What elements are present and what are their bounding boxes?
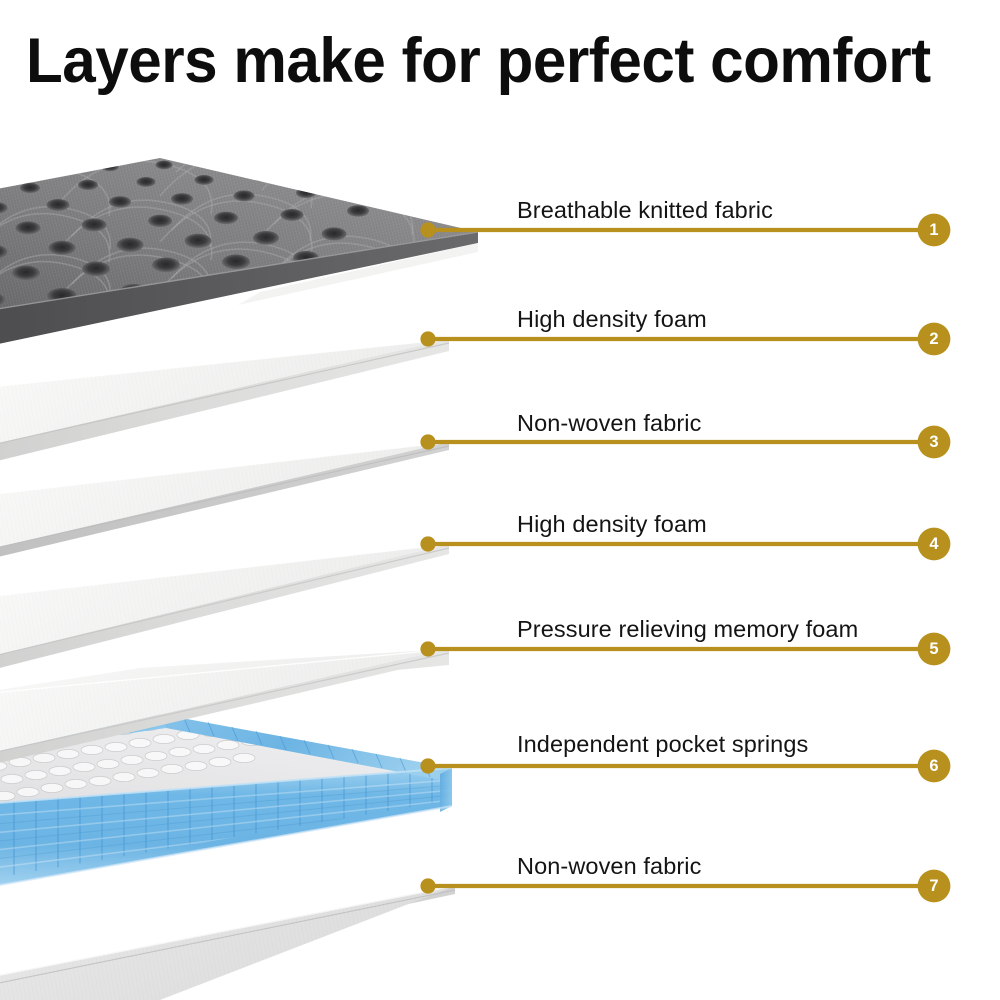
callout-label-6: Independent pocket springs (517, 731, 808, 757)
callout-badge-circle-1 (918, 214, 951, 247)
callout-badge-circle-4 (918, 528, 951, 561)
callout-badge-circle-6 (918, 750, 951, 783)
callout-badge-circle-7 (918, 870, 951, 903)
callout-label-7: Non-woven fabric (517, 853, 701, 879)
callout-badge-circle-3 (918, 426, 951, 459)
layer-non-woven-fabric-upper (0, 442, 449, 566)
callout-dot-5 (420, 641, 435, 656)
callout-label-2: High density foam (517, 306, 707, 332)
callout-label-4: High density foam (517, 511, 707, 537)
callout-label-1: Breathable knitted fabric (517, 197, 773, 223)
mattress-layers-illustration (0, 0, 1000, 1000)
callout-badge-circle-2 (918, 323, 951, 356)
callout-dot-6 (420, 758, 435, 773)
callout-badge-circle-5 (918, 633, 951, 666)
callout-label-5: Pressure relieving memory foam (517, 616, 858, 642)
callout-dot-1 (420, 222, 435, 237)
callout-dot-3 (420, 434, 435, 449)
callout-dot-4 (420, 536, 435, 551)
layer-non-woven-fabric-lower (0, 886, 455, 1000)
layer-breathable-knitted-fabric (0, 140, 478, 352)
callout-dot-2 (420, 331, 435, 346)
callout-dot-7 (420, 878, 435, 893)
callout-label-3: Non-woven fabric (517, 410, 701, 436)
